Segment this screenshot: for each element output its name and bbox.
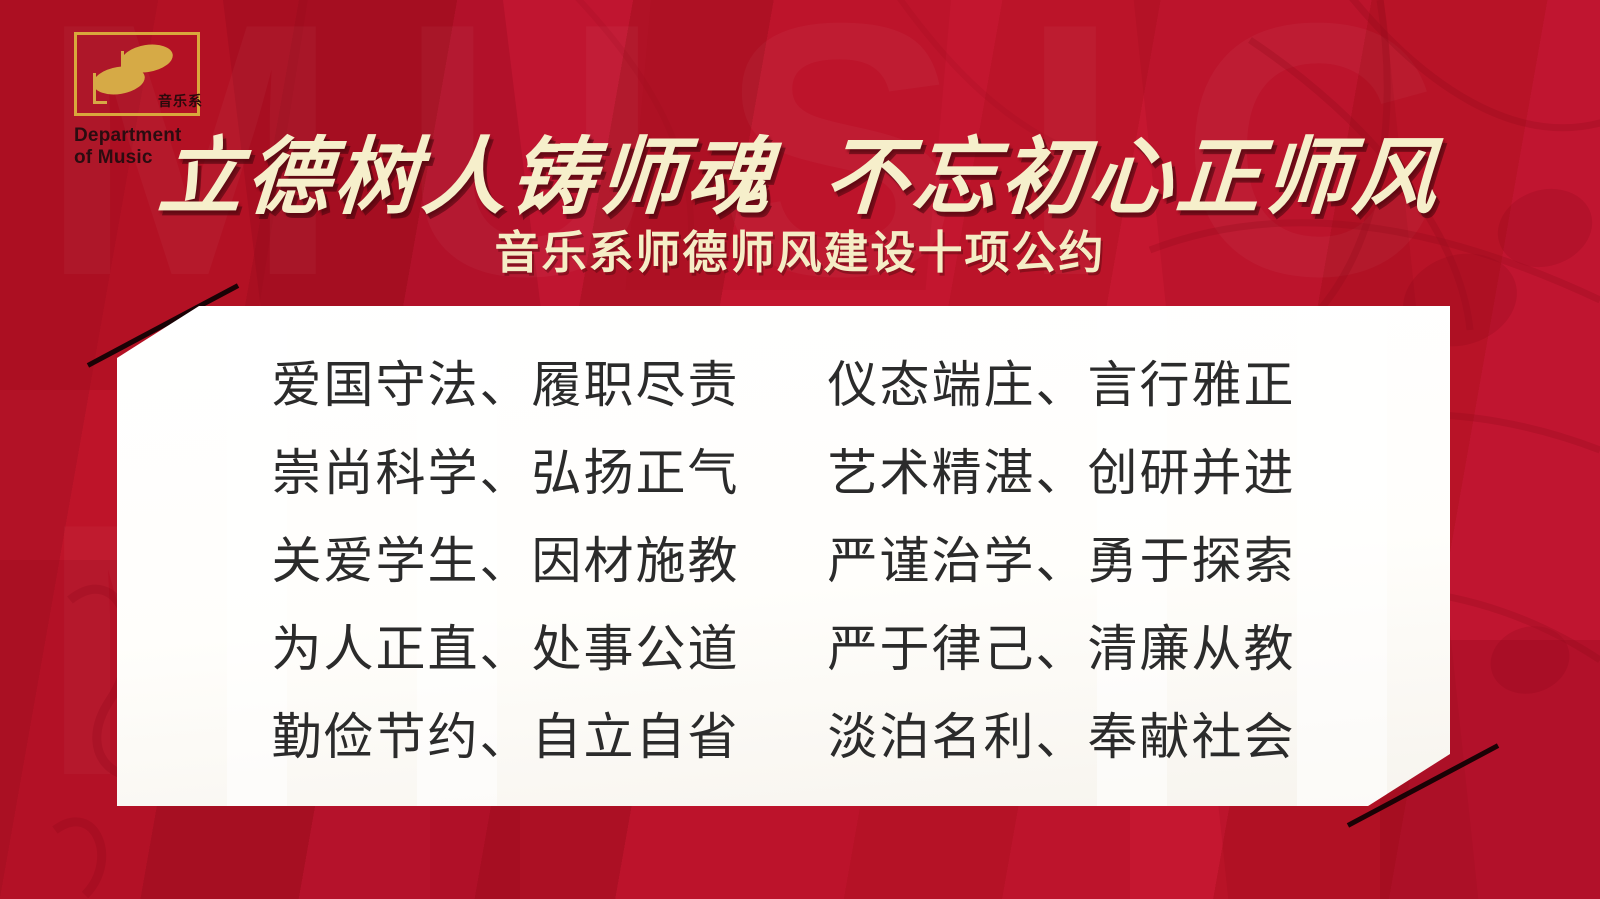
music-note-icon (91, 63, 147, 98)
pledge-line: 艺术精湛、创研并进 (828, 429, 1296, 517)
pledge-line: 崇尚科学、弘扬正气 (272, 429, 740, 517)
subtitle: 音乐系师德师风建设十项公约 (0, 216, 1600, 281)
pledge-line: 关爱学生、因材施教 (272, 517, 740, 605)
pledge-line: 为人正直、处事公道 (272, 605, 740, 693)
pledge-column-right: 仪态端庄、言行雅正 艺术精湛、创研并进 严谨治学、勇于探索 严于律己、清廉从教 … (828, 341, 1296, 781)
pledge-column-left: 爱国守法、履职尽责 崇尚科学、弘扬正气 关爱学生、因材施教 为人正直、处事公道 … (272, 341, 740, 781)
note-stem (121, 51, 124, 81)
pledge-line: 严于律己、清廉从教 (828, 605, 1296, 693)
logo-chinese-label: 音乐系 (158, 91, 203, 111)
logo-english-name: Department of Music (74, 125, 224, 170)
pledge-line: 勤俭节约、自立自省 (272, 693, 740, 781)
logo-mark-frame: 音乐系 (74, 32, 200, 116)
pledge-card: 爱国守法、履职尽责 崇尚科学、弘扬正气 关爱学生、因材施教 为人正直、处事公道 … (117, 306, 1450, 806)
note-stem (93, 73, 96, 103)
logo-english-line1: Department (74, 125, 224, 147)
pledge-line: 爱国守法、履职尽责 (272, 341, 740, 429)
pledge-line: 严谨治学、勇于探索 (828, 517, 1296, 605)
logo-english-line2: of Music (74, 147, 224, 169)
pledge-line: 淡泊名利、奉献社会 (828, 693, 1296, 781)
note-stem-foot (93, 101, 107, 104)
pledge-line: 仪态端庄、言行雅正 (828, 341, 1296, 429)
pledge-columns: 爱国守法、履职尽责 崇尚科学、弘扬正气 关爱学生、因材施教 为人正直、处事公道 … (272, 341, 1296, 781)
poster-canvas: MUSIC MUSIC (0, 0, 1600, 899)
department-logo: 音乐系 Department of Music (74, 32, 224, 170)
